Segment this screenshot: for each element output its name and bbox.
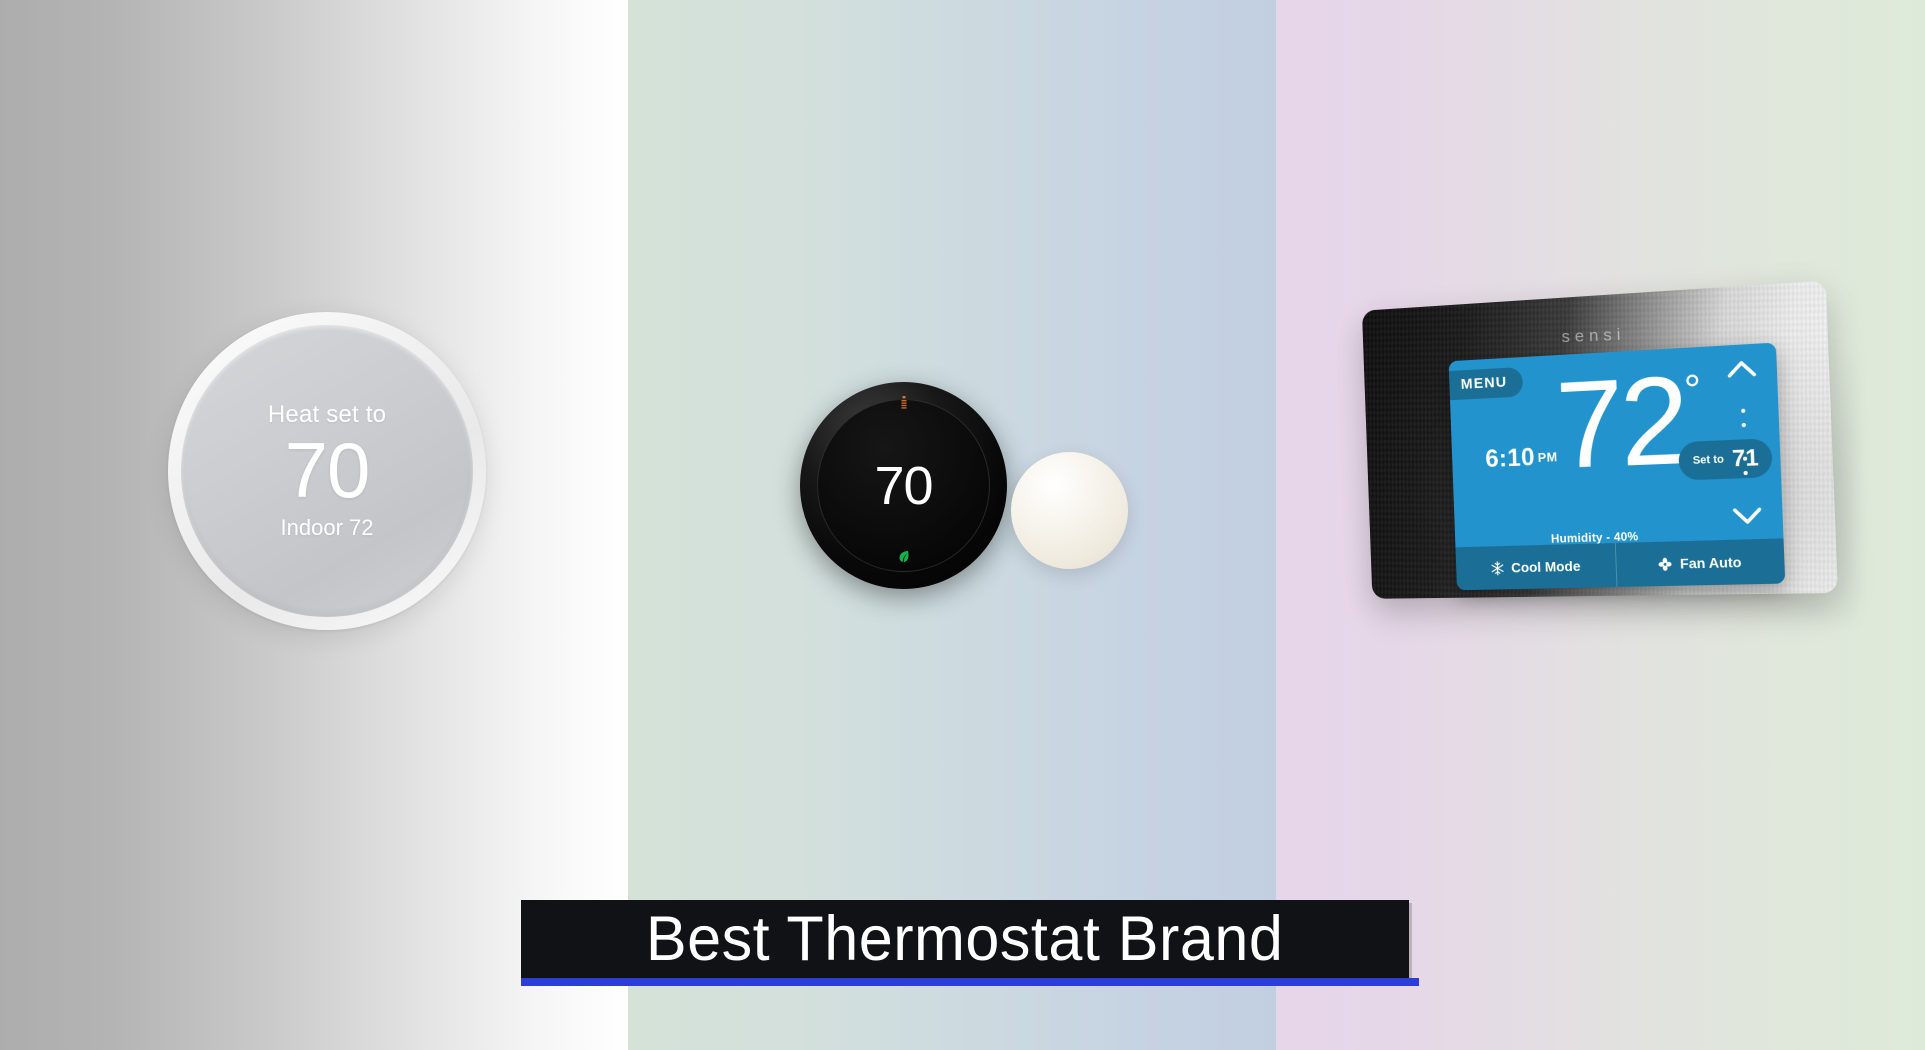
sensi-screen[interactable]: MENU 6:10PM 72° Humidity - 40% Set to 71 <box>1449 343 1786 591</box>
sensi-clock-ampm: PM <box>1537 449 1557 465</box>
sensi-cool-mode-button[interactable]: Cool Mode <box>1455 543 1616 590</box>
sensi-clock-time: 6:10 <box>1485 443 1536 473</box>
poster-canvas: Heat set to 70 Indoor 72 70 sensi MENU <box>0 0 1925 1050</box>
nest-dial-mode-label: Heat set to <box>268 403 386 427</box>
product-nest-learning[interactable]: 70 <box>800 382 1007 589</box>
sensi-fan-auto-label: Fan Auto <box>1680 554 1742 572</box>
product-nest-dial[interactable]: Heat set to 70 Indoor 72 <box>168 312 486 630</box>
nest-dial-indoor-temp: Indoor 72 <box>281 517 374 539</box>
sensi-cool-mode-label: Cool Mode <box>1511 558 1581 575</box>
chevron-up-icon[interactable] <box>1726 358 1758 379</box>
nest-dial-target-temp: 70 <box>285 433 370 508</box>
nest-dial-screen[interactable]: Heat set to 70 Indoor 72 <box>181 325 473 617</box>
sensi-setpoint-value: 71 <box>1732 446 1759 471</box>
sensi-clock: 6:10PM <box>1485 442 1558 474</box>
green-leaf-icon <box>898 550 909 563</box>
heating-flame-icon <box>899 396 908 410</box>
sensi-setpoint-label: Set to <box>1693 453 1725 466</box>
page-title: Best Thermostat Brand <box>646 908 1283 971</box>
stepper-dot <box>1742 423 1746 427</box>
nest-learning-temp: 70 <box>874 459 932 513</box>
nest-learning-ivory-sphere <box>1011 452 1128 569</box>
sensi-menu-button[interactable]: MENU <box>1449 367 1524 401</box>
stepper-dot <box>1741 408 1745 412</box>
snowflake-icon <box>1490 560 1505 575</box>
chevron-down-icon[interactable] <box>1731 505 1763 525</box>
sensi-setpoint-pill[interactable]: Set to 71 <box>1678 438 1773 480</box>
sensi-brand-logo: sensi <box>1561 325 1626 347</box>
sensi-degree-symbol: ° <box>1683 365 1702 413</box>
fan-icon <box>1658 556 1674 571</box>
title-accent-underline <box>521 978 1419 986</box>
product-sensi-thermostat[interactable]: sensi MENU 6:10PM 72° Humidity - 40% Set… <box>1355 296 1855 626</box>
sensi-temp-value: 72 <box>1554 351 1688 495</box>
sensi-fan-auto-button[interactable]: Fan Auto <box>1615 538 1785 587</box>
sensi-bottom-bar: Cool Mode Fan Auto <box>1455 538 1785 590</box>
title-banner: Best Thermostat Brand <box>521 900 1409 978</box>
sensi-stepper-dots-upper <box>1741 408 1746 427</box>
